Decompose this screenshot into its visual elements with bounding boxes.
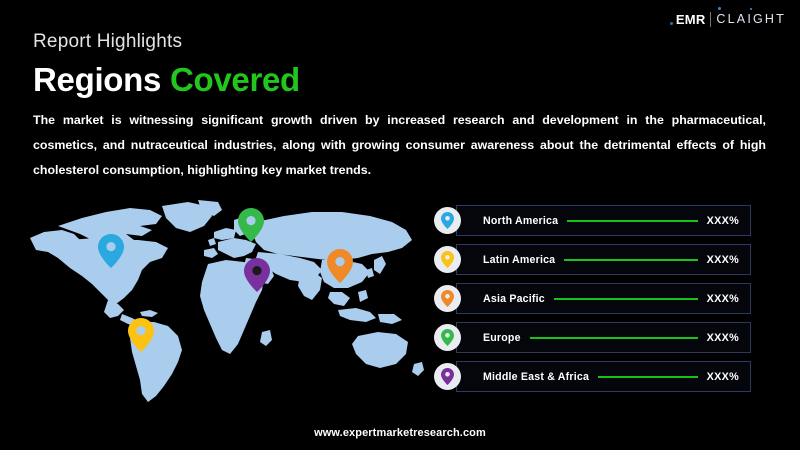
legend-row-box[interactable]: Middle East & Africa XXX% bbox=[456, 361, 751, 392]
legend-row-value: XXX% bbox=[707, 371, 739, 383]
legend-row-value: XXX% bbox=[707, 215, 739, 227]
legend-row-value: XXX% bbox=[707, 293, 739, 305]
legend-row-europe[interactable]: Europe XXX% bbox=[434, 322, 754, 353]
legend-row-label: Latin America bbox=[483, 254, 555, 266]
logo-dot-icon bbox=[670, 22, 673, 25]
eyebrow-label: Report Highlights bbox=[33, 31, 182, 53]
map-pin-icon[interactable] bbox=[434, 207, 461, 234]
map-pin-middle-east-africa[interactable] bbox=[244, 258, 270, 292]
legend-row-asia-pacific[interactable]: Asia Pacific XXX% bbox=[434, 283, 754, 314]
legend-connector-line bbox=[598, 376, 698, 378]
legend-row-latin-america[interactable]: Latin America XXX% bbox=[434, 244, 754, 275]
world-map-svg bbox=[22, 196, 432, 418]
logo-divider bbox=[710, 12, 711, 27]
legend-connector-line bbox=[530, 337, 698, 339]
legend-connector-line bbox=[567, 220, 697, 222]
map-pin-icon[interactable] bbox=[434, 363, 461, 390]
map-pin-latin-america[interactable] bbox=[128, 318, 154, 352]
map-pin-north-america[interactable] bbox=[98, 234, 124, 268]
legend-row-box[interactable]: Latin America XXX% bbox=[456, 244, 751, 275]
logo-emr-text: EMR bbox=[676, 13, 706, 26]
footer-website[interactable]: www.expertmarketresearch.com bbox=[0, 427, 800, 439]
world-map-landmasses bbox=[30, 200, 424, 402]
legend-connector-line bbox=[554, 298, 698, 300]
legend-row-middle-east-africa[interactable]: Middle East & Africa XXX% bbox=[434, 361, 754, 392]
legend-row-box[interactable]: Asia Pacific XXX% bbox=[456, 283, 751, 314]
region-legend: North America XXX% Latin America XXX% As… bbox=[434, 205, 754, 397]
legend-row-label: Asia Pacific bbox=[483, 293, 545, 305]
legend-row-value: XXX% bbox=[707, 332, 739, 344]
brand-logo: EMR CLAIGHT bbox=[676, 10, 786, 28]
page-title-part2: Covered bbox=[170, 61, 300, 98]
logo-dot-icon bbox=[718, 7, 721, 10]
map-pin-asia-pacific[interactable] bbox=[327, 249, 353, 283]
legend-row-north-america[interactable]: North America XXX% bbox=[434, 205, 754, 236]
map-pin-icon[interactable] bbox=[434, 246, 461, 273]
intro-paragraph: The market is witnessing significant gro… bbox=[33, 108, 766, 182]
legend-row-label: Middle East & Africa bbox=[483, 371, 589, 383]
legend-row-value: XXX% bbox=[707, 254, 739, 266]
legend-connector-line bbox=[564, 259, 697, 261]
legend-row-box[interactable]: Europe XXX% bbox=[456, 322, 751, 353]
page-title-part1: Regions bbox=[33, 61, 161, 98]
legend-row-box[interactable]: North America XXX% bbox=[456, 205, 751, 236]
map-pin-icon[interactable] bbox=[434, 324, 461, 351]
world-map bbox=[22, 196, 432, 418]
map-pin-europe[interactable] bbox=[238, 208, 264, 242]
logo-claight-text: CLAIGHT bbox=[716, 13, 786, 26]
page-title: Regions Covered bbox=[33, 61, 300, 99]
logo-dot-icon bbox=[750, 8, 752, 10]
legend-row-label: Europe bbox=[483, 332, 521, 344]
legend-row-label: North America bbox=[483, 215, 558, 227]
map-pin-icon[interactable] bbox=[434, 285, 461, 312]
